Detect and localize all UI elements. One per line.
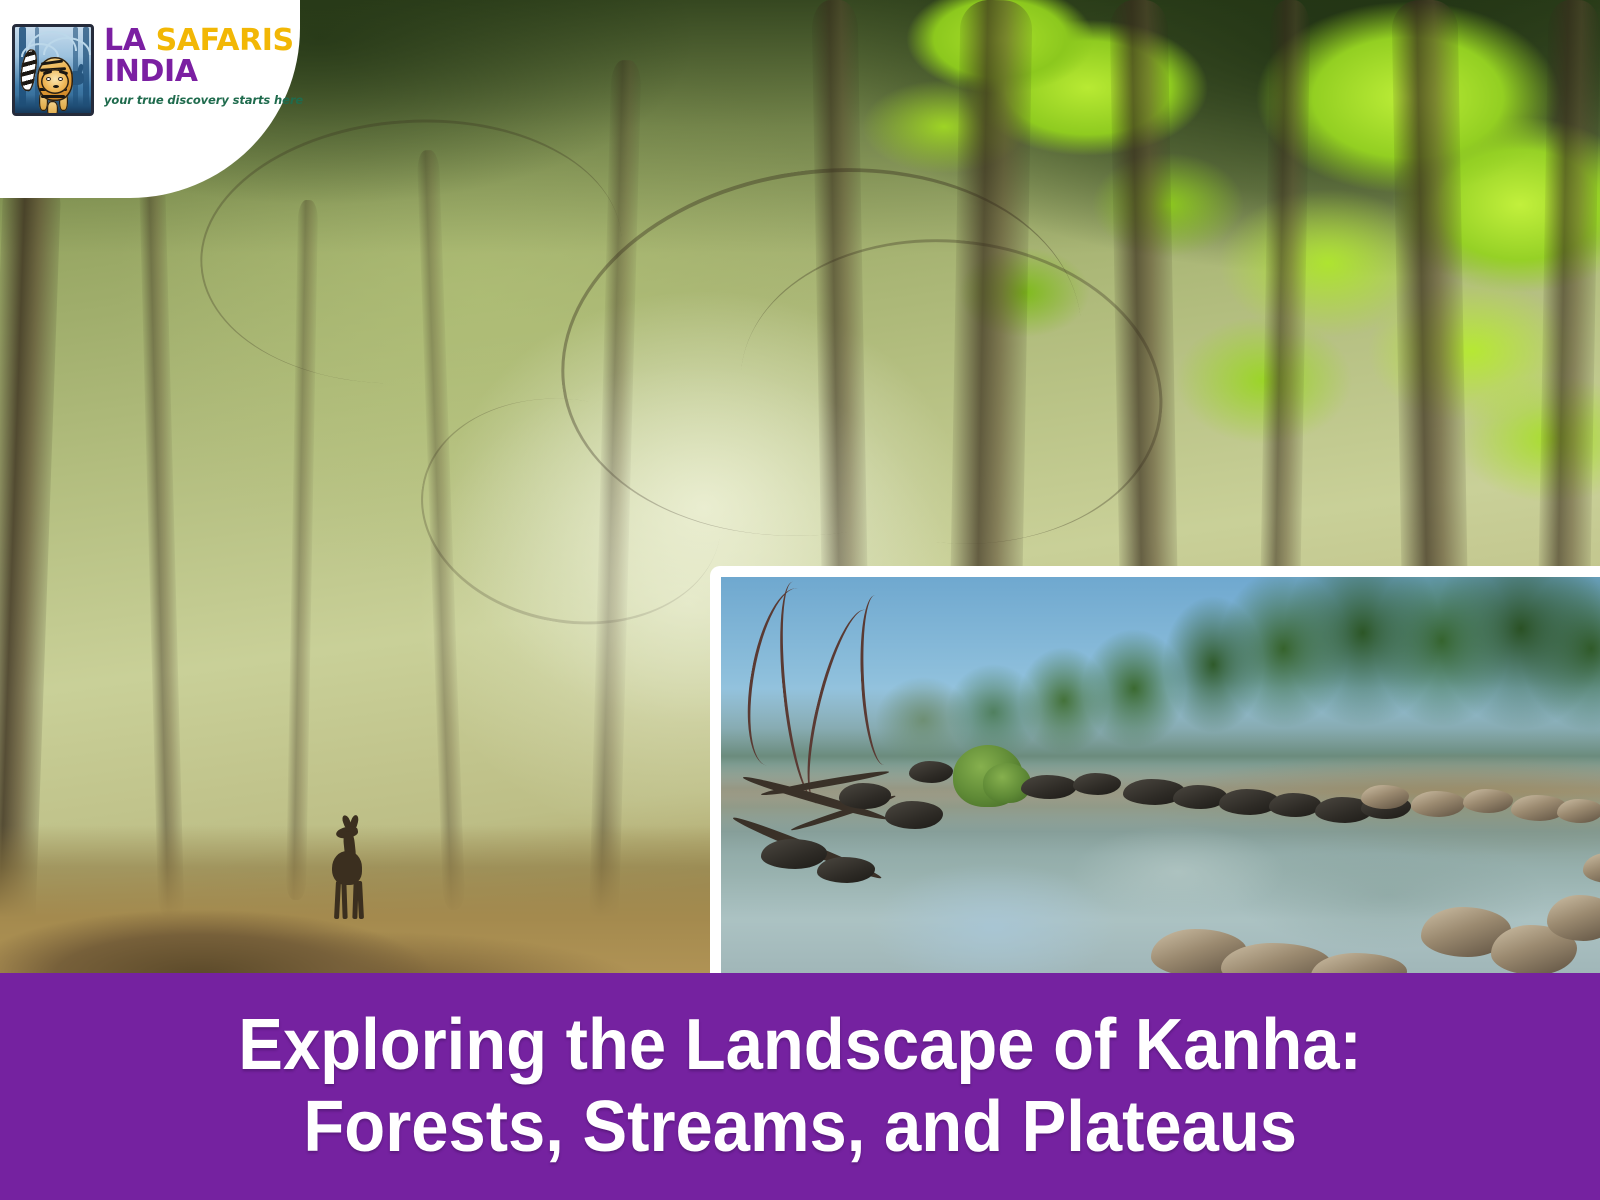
logo-wordmark: LA SAFARIS INDIA your true discovery sta… — [104, 24, 303, 107]
logo-row: LA SAFARIS INDIA your true discovery sta… — [12, 24, 303, 116]
logo-tagline: your true discovery starts here — [104, 93, 303, 107]
title-banner: Exploring the Landscape of Kanha: Forest… — [0, 973, 1600, 1200]
banner-title-line-2: Forests, Streams, and Plateaus — [303, 1091, 1297, 1164]
dirt-mound — [0, 865, 480, 975]
poster-canvas: LA SAFARIS INDIA your true discovery sta… — [0, 0, 1600, 1200]
logo-word-safaris: SAFARIS — [156, 23, 294, 58]
banner-title-line-1: Exploring the Landscape of Kanha: — [238, 1009, 1362, 1082]
tiger-in-forest-logo-icon — [12, 24, 94, 116]
inset-photo — [721, 577, 1600, 975]
inset-photo-frame — [710, 566, 1600, 975]
deer-silhouette — [326, 815, 374, 920]
logo-title-line-2: INDIA — [104, 57, 303, 88]
logo-title-line-1: LA SAFARIS — [104, 26, 303, 57]
logo-word-india: INDIA — [104, 54, 198, 89]
logo-word-la: LA — [104, 23, 146, 58]
